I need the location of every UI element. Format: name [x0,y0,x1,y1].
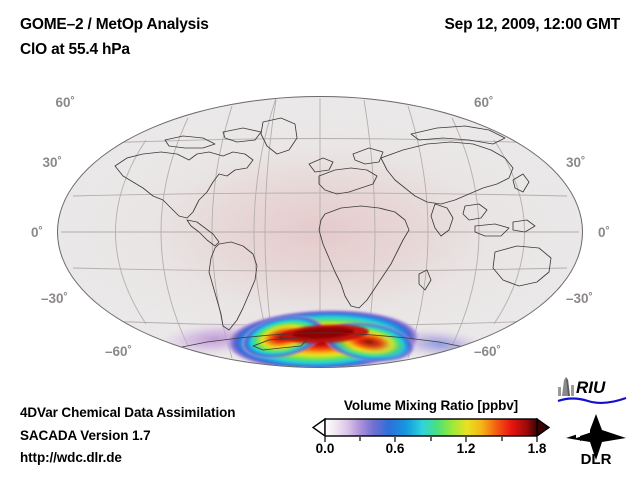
coastlines [57,96,583,368]
colorbar: Volume Mixing Ratio [ppbv] [312,398,550,458]
lat-label-left-60s: –60˚ [0,344,132,359]
lat-label-right-60n: 60˚ [474,95,494,110]
footer-line-method: 4DVar Chemical Data Assimilation [20,402,235,425]
colorbar-extend-right [537,419,549,436]
colorbar-tick-labels: 0.0 0.6 1.2 1.8 [312,438,550,458]
lat-label-left-30n: 30˚ [0,155,62,170]
lat-label-left-30s: –30˚ [0,291,68,306]
colorbar-extend-left [313,419,325,436]
colorbar-tick-2: 1.2 [457,441,476,456]
colorbar-tick-0: 0.0 [316,441,335,456]
footer-line-version: SACADA Version 1.7 [20,425,235,448]
riu-logo: RIU [556,374,630,406]
lat-label-right-0: 0˚ [598,225,610,240]
colorbar-gradient [312,418,550,437]
lat-label-left-0: 0˚ [0,225,43,240]
colorbar-tick-marks [312,437,550,442]
colorbar-tick-3: 1.8 [528,441,547,456]
page-subtitle: ClO at 55.4 hPa [20,41,130,59]
riu-logo-text: RIU [576,378,606,397]
colorbar-title: Volume Mixing Ratio [ppbv] [312,398,550,413]
lat-label-right-60s: –60˚ [474,344,501,359]
page-title: GOME–2 / MetOp Analysis [20,16,209,34]
lat-label-left-60n: 60˚ [0,95,75,110]
colorbar-tick-1: 0.6 [386,441,405,456]
lat-label-right-30s: –30˚ [566,291,593,306]
colorbar-bar [325,419,537,436]
globe-clip [57,96,583,368]
colorbar-strip [312,418,550,437]
riu-tower-icon [558,377,574,396]
map-plot-area: 60˚ 30˚ 0˚ –30˚ –60˚ 60˚ 30˚ 0˚ –30˚ –60… [0,80,640,380]
dlr-logo: DLR [560,412,632,466]
footer-line-url[interactable]: http://wdc.dlr.de [20,447,235,470]
dlr-logo-text: DLR [581,451,612,466]
riu-wave-icon [558,398,626,403]
globe-projection [57,96,583,368]
lat-label-right-30n: 30˚ [566,155,586,170]
footer-credits: 4DVar Chemical Data Assimilation SACADA … [20,402,235,470]
timestamp-label: Sep 12, 2009, 12:00 GMT [445,16,620,34]
